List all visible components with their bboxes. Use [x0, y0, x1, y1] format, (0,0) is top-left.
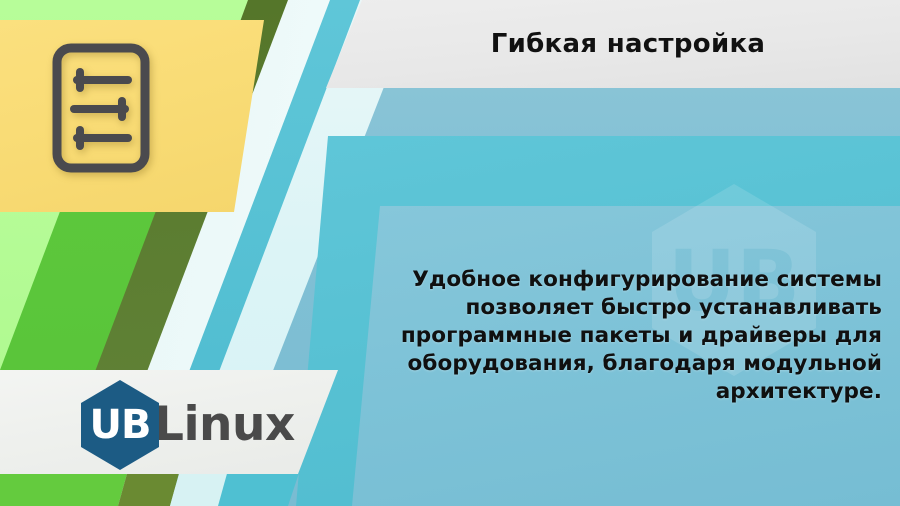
ub-hexagon-icon: UB [78, 379, 162, 471]
settings-sliders-icon [50, 41, 152, 175]
brand-logo: UB Linux [78, 379, 295, 471]
body-text: Удобное конфигурирование системы позволя… [400, 266, 882, 406]
title-banner: Гибкая настройка [326, 0, 900, 88]
ub-mark-label: UB [78, 379, 162, 471]
slide-canvas: Гибкая настройка UB Удобное конфигуриров… [0, 0, 900, 506]
page-title: Гибкая настройка [326, 0, 900, 88]
logo-wordmark: Linux [154, 401, 295, 448]
